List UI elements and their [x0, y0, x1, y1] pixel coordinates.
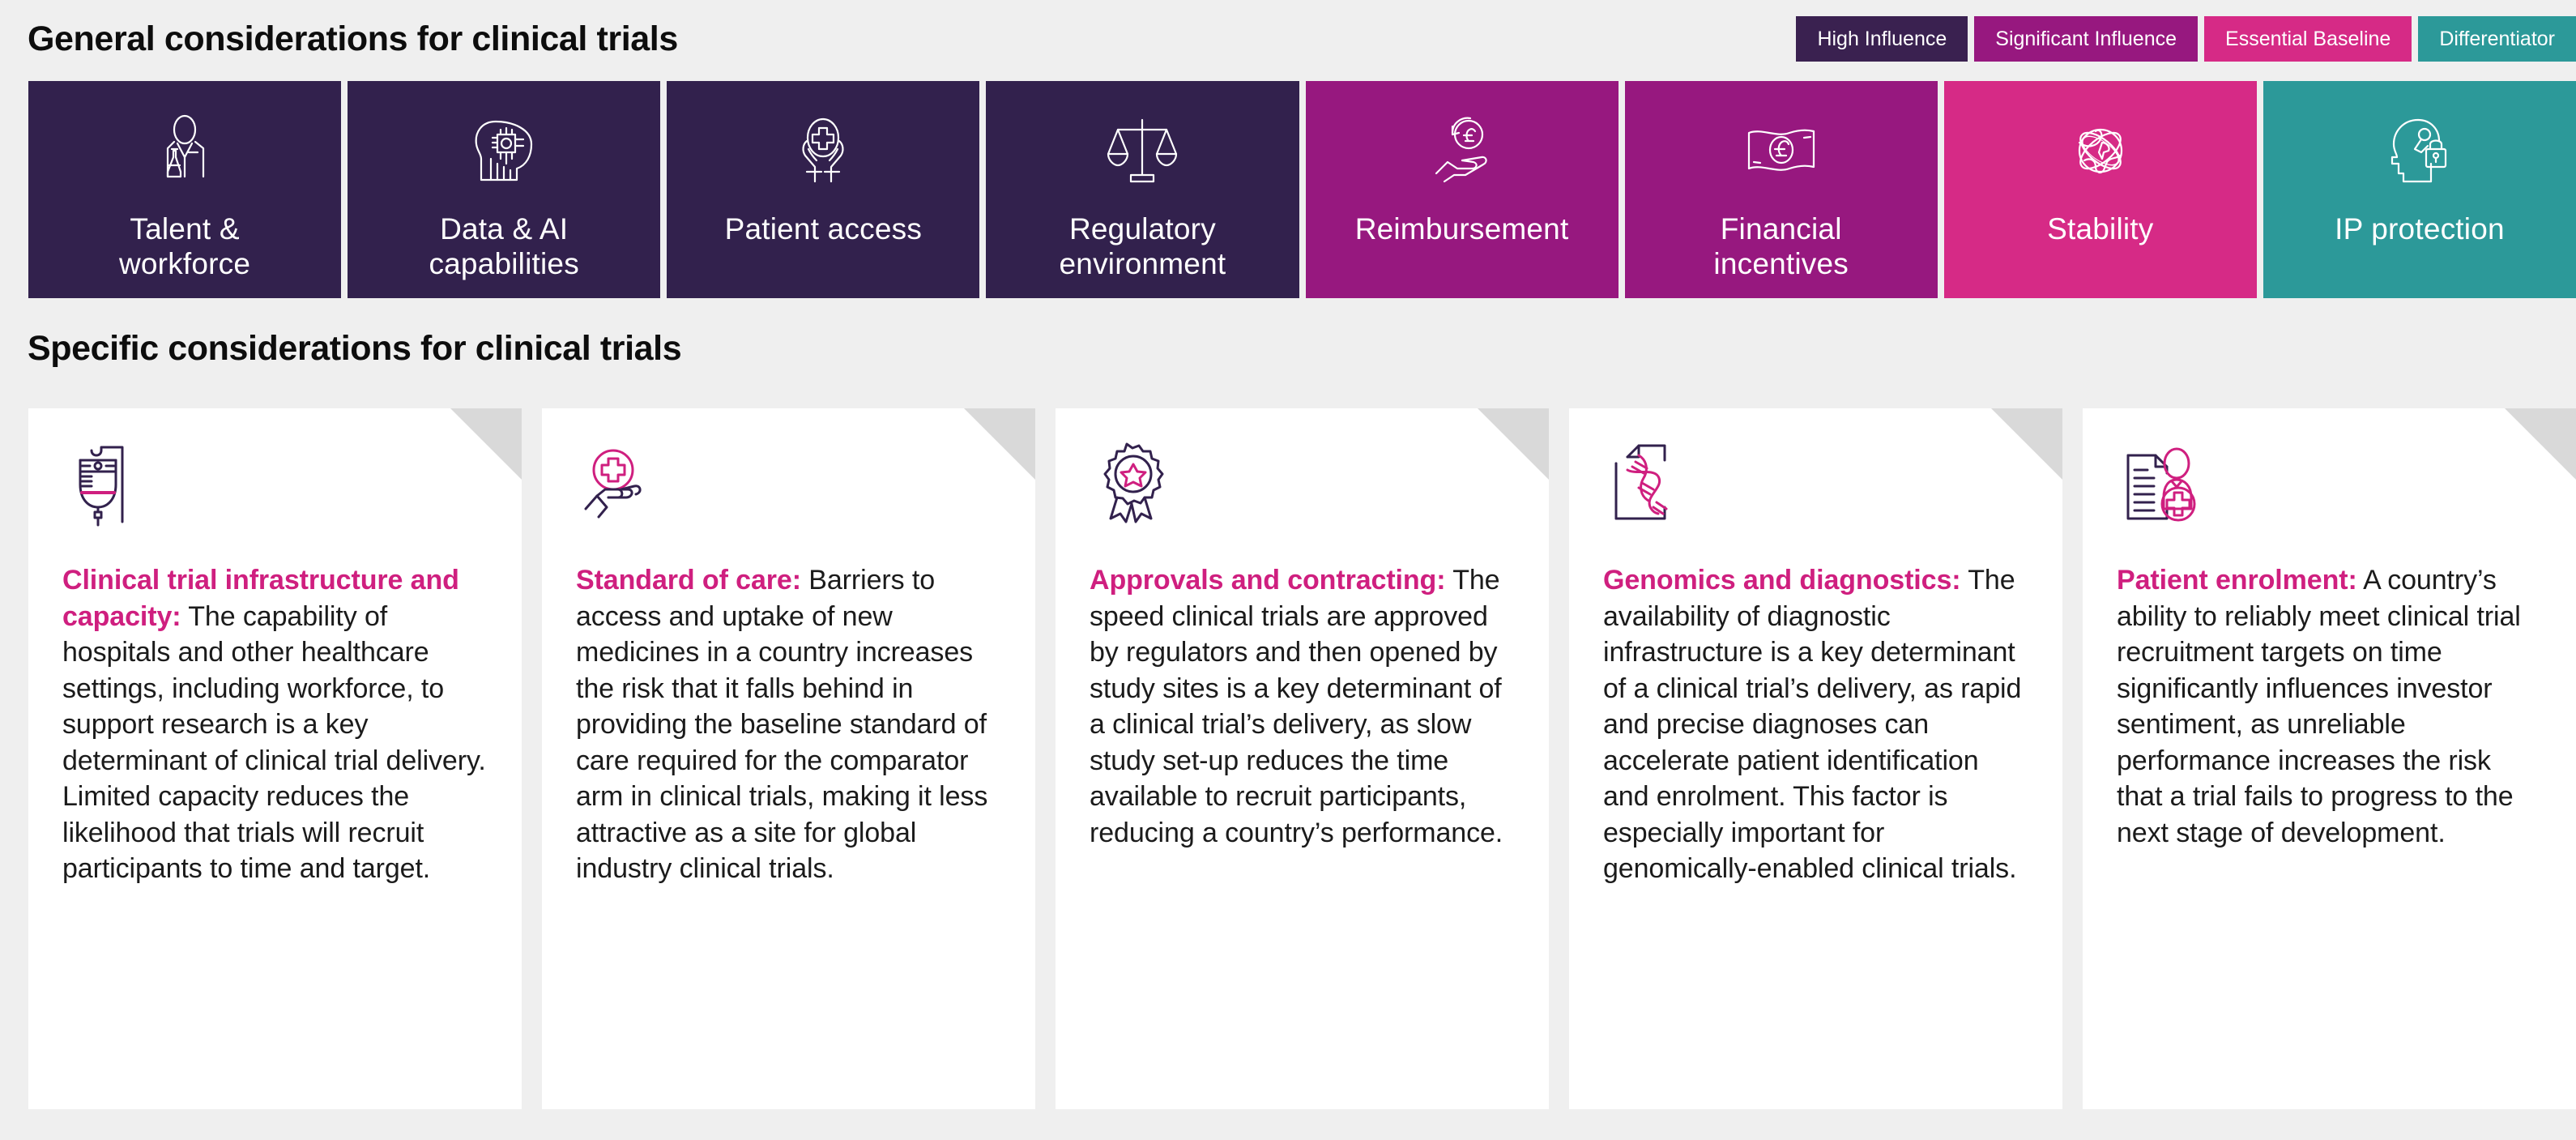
banknote-icon [1741, 110, 1822, 191]
card-body: A country’s ability to reliably meet cli… [2117, 565, 2521, 848]
tile-talent-workforce[interactable]: Talent & workforce [28, 81, 341, 298]
tile-label: Regulatory environment [1053, 212, 1233, 282]
legend-badge-label: Differentiator [2439, 28, 2555, 51]
card-patient-enrolment: Patient enrolment: A country’s ability t… [2083, 408, 2576, 1109]
rosette-star-icon [1090, 439, 1185, 530]
legend-badge-high-influence[interactable]: High Influence [1796, 16, 1968, 62]
card-heading: Genomics and diagnostics: [1603, 565, 1960, 596]
folded-corner [450, 408, 522, 480]
tile-reimbursement[interactable]: Reimbursement [1306, 81, 1619, 298]
tile-data-ai-capabilities[interactable]: Data & AI capabilities [348, 81, 660, 298]
tile-label: Patient access [719, 212, 928, 247]
card-body: The speed clinical trials are approved b… [1090, 565, 1503, 848]
hand-cross-icon [576, 439, 672, 530]
tile-stability[interactable]: Stability [1944, 81, 2257, 298]
tile-ip-protection[interactable]: IP protection [2263, 81, 2576, 298]
card-body: The availability of diagnostic infrastru… [1603, 565, 2021, 884]
tile-label: Data & AI capabilities [422, 212, 585, 282]
legend-badge-label: Essential Baseline [2225, 28, 2390, 51]
page-title: General considerations for clinical tria… [28, 19, 678, 59]
scientist-icon [144, 110, 225, 191]
folded-corner [1991, 408, 2062, 480]
header-row: General considerations for clinical tria… [0, 15, 2576, 65]
section-title: Specific considerations for clinical tri… [28, 329, 681, 369]
tile-label: Stability [2041, 212, 2160, 247]
tile-financial-incentives[interactable]: Financial incentives [1625, 81, 1938, 298]
infographic-page: General considerations for clinical tria… [0, 0, 2576, 1140]
card-body: The capability of hospitals and other he… [62, 601, 486, 885]
tile-patient-access[interactable]: Patient access [667, 81, 979, 298]
tile-label: Talent & workforce [113, 212, 257, 282]
card-text: Standard of care: Barriers to access and… [576, 562, 1001, 887]
folded-corner [2505, 408, 2576, 480]
legend-badge-label: Significant Influence [1995, 28, 2177, 51]
tile-label: Reimbursement [1349, 212, 1576, 247]
tile-regulatory-environment[interactable]: Regulatory environment [986, 81, 1299, 298]
tile-label: IP protection [2328, 212, 2511, 247]
legend-badge-significant-influence[interactable]: Significant Influence [1974, 16, 2198, 62]
folded-corner [964, 408, 1035, 480]
card-standard-of-care: Standard of care: Barriers to access and… [542, 408, 1035, 1109]
globe-orbit-icon [2060, 110, 2141, 191]
hand-coin-icon [1422, 110, 1503, 191]
card-text: Patient enrolment: A country’s ability t… [2117, 562, 2542, 851]
card-clinical-trial-infrastructure: Clinical trial infrastructure and capaci… [28, 408, 522, 1109]
card-heading: Patient enrolment: [2117, 565, 2357, 596]
card-text: Approvals and contracting: The speed cli… [1090, 562, 1515, 851]
hands-cross-icon [783, 110, 864, 191]
legend: High Influence Significant Influence Ess… [1796, 16, 2576, 62]
patient-record-icon [2117, 439, 2212, 530]
tile-label: Financial incentives [1707, 212, 1855, 282]
scales-icon [1102, 110, 1183, 191]
card-text: Clinical trial infrastructure and capaci… [62, 562, 488, 887]
head-lock-icon [2379, 110, 2460, 191]
card-text: Genomics and diagnostics: The availabili… [1603, 562, 2028, 887]
card-approvals-contracting: Approvals and contracting: The speed cli… [1056, 408, 1549, 1109]
dna-document-icon [1603, 439, 1699, 530]
legend-badge-differentiator[interactable]: Differentiator [2418, 16, 2576, 62]
legend-badge-label: High Influence [1817, 28, 1947, 51]
card-heading: Approvals and contracting: [1090, 565, 1445, 596]
card-body: Barriers to access and uptake of new med… [576, 565, 987, 884]
iv-drip-icon [62, 439, 158, 530]
legend-badge-essential-baseline[interactable]: Essential Baseline [2204, 16, 2412, 62]
category-tiles: Talent & workforce Data & AI capabilitie… [28, 81, 2576, 298]
folded-corner [1478, 408, 1549, 480]
consideration-cards: Clinical trial infrastructure and capaci… [28, 408, 2576, 1109]
ai-brain-icon [463, 110, 544, 191]
card-heading: Standard of care: [576, 565, 801, 596]
card-genomics-diagnostics: Genomics and diagnostics: The availabili… [1569, 408, 2062, 1109]
